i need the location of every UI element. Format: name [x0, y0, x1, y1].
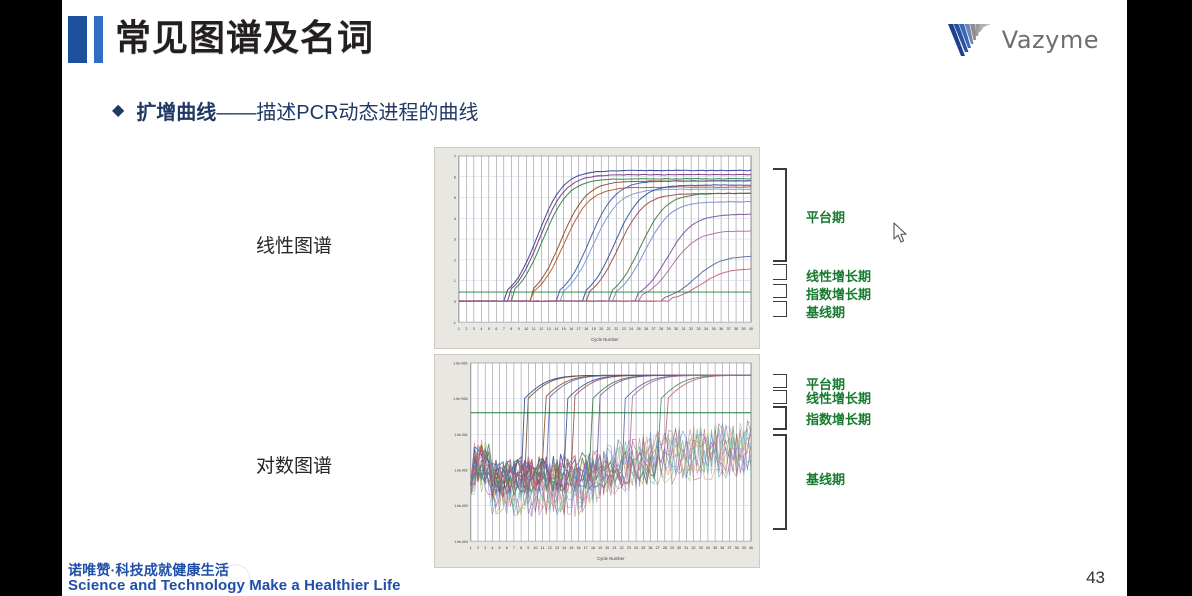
svg-text:6: 6 — [454, 175, 456, 179]
svg-text:39: 39 — [742, 327, 746, 331]
svg-text:34: 34 — [706, 546, 710, 550]
svg-text:40: 40 — [749, 546, 753, 550]
phase-linear-plateau: 平台期 — [806, 209, 845, 226]
svg-text:10: 10 — [524, 327, 528, 331]
svg-text:36: 36 — [719, 327, 723, 331]
svg-text:15: 15 — [569, 546, 573, 550]
svg-text:36: 36 — [720, 546, 724, 550]
svg-text:17: 17 — [577, 327, 581, 331]
phase-log-baseline: 基线期 — [806, 471, 845, 488]
subtitle-strong: 扩增曲线 — [136, 102, 216, 124]
logo-text: Vazyme — [1002, 26, 1099, 54]
svg-text:12: 12 — [539, 327, 543, 331]
svg-text:33: 33 — [699, 546, 703, 550]
section-subtitle: ◆ 扩增曲线——描述PCR动态进程的曲线 — [112, 96, 479, 125]
svg-text:5: 5 — [499, 546, 501, 550]
svg-text:23: 23 — [622, 327, 626, 331]
svg-text:39: 39 — [742, 546, 746, 550]
svg-text:4: 4 — [480, 327, 482, 331]
svg-text:11: 11 — [532, 327, 536, 331]
svg-text:17: 17 — [584, 546, 588, 550]
svg-text:35: 35 — [712, 327, 716, 331]
svg-text:21: 21 — [607, 327, 611, 331]
svg-text:32: 32 — [692, 546, 696, 550]
svg-text:1.0e-004: 1.0e-004 — [454, 540, 468, 544]
label-linear-plot: 线性图谱 — [256, 231, 332, 258]
svg-text:26: 26 — [644, 327, 648, 331]
svg-text:1: 1 — [458, 327, 460, 331]
brand-logo: Vazyme — [946, 22, 1099, 58]
phase-log-linear-growth: 线性增长期 — [806, 390, 871, 407]
svg-text:2: 2 — [465, 327, 467, 331]
svg-text:5: 5 — [454, 196, 456, 200]
svg-text:1.0e-003: 1.0e-003 — [454, 504, 468, 508]
svg-text:35: 35 — [713, 546, 717, 550]
title-accent-bar-thick — [68, 16, 87, 63]
svg-text:38: 38 — [735, 546, 739, 550]
bracket-linear-plateau — [773, 168, 787, 262]
svg-text:30: 30 — [677, 546, 681, 550]
page-number: 43 — [1086, 568, 1105, 588]
svg-text:1.0e+000: 1.0e+000 — [453, 397, 468, 401]
svg-text:12: 12 — [548, 546, 552, 550]
svg-text:3: 3 — [454, 238, 456, 242]
svg-text:20: 20 — [599, 327, 603, 331]
svg-text:9: 9 — [527, 546, 529, 550]
subtitle-rest: ——描述PCR动态进程的曲线 — [216, 102, 478, 124]
svg-text:5: 5 — [488, 327, 490, 331]
diamond-bullet-icon: ◆ — [112, 103, 124, 119]
svg-text:18: 18 — [584, 327, 588, 331]
svg-text:33: 33 — [697, 327, 701, 331]
label-log-plot: 对数图谱 — [256, 451, 332, 478]
svg-text:3: 3 — [484, 546, 486, 550]
svg-text:16: 16 — [569, 327, 573, 331]
svg-text:1: 1 — [470, 546, 472, 550]
slide-canvas: 常见图谱及名词 Vazyme ◆ 扩增曲线——描述PCR动态进程的曲线 — [62, 0, 1127, 596]
screen-root: 常见图谱及名词 Vazyme ◆ 扩增曲线——描述PCR动态进程的曲线 — [0, 0, 1192, 596]
svg-text:-1: -1 — [453, 321, 456, 325]
page-title: 常见图谱及名词 — [115, 14, 374, 62]
svg-text:13: 13 — [547, 327, 551, 331]
bracket-linear-baseline — [773, 301, 787, 317]
svg-text:20: 20 — [605, 546, 609, 550]
svg-text:18: 18 — [591, 546, 595, 550]
svg-text:16: 16 — [577, 546, 581, 550]
svg-text:19: 19 — [592, 327, 596, 331]
svg-text:31: 31 — [682, 327, 686, 331]
svg-text:24: 24 — [634, 546, 638, 550]
svg-text:22: 22 — [620, 546, 624, 550]
svg-text:34: 34 — [704, 327, 708, 331]
svg-text:21: 21 — [613, 546, 617, 550]
svg-text:2: 2 — [454, 258, 456, 262]
svg-text:4: 4 — [491, 546, 493, 550]
svg-text:3: 3 — [473, 327, 475, 331]
bracket-linear-exponential-growth — [773, 284, 787, 298]
svg-text:6: 6 — [506, 546, 508, 550]
svg-text:27: 27 — [652, 327, 656, 331]
svg-text:11: 11 — [541, 546, 545, 550]
svg-text:1: 1 — [454, 279, 456, 283]
svg-text:Cycle Number: Cycle Number — [597, 556, 625, 561]
phase-linear-exponential-growth: 指数增长期 — [806, 286, 871, 303]
footer-slogan-cn: 诺唯赞·科技成就健康生活 — [68, 562, 401, 578]
svg-text:22: 22 — [614, 327, 618, 331]
svg-text:30: 30 — [674, 327, 678, 331]
bracket-linear-linear-growth — [773, 264, 787, 280]
svg-text:15: 15 — [562, 327, 566, 331]
footer-slogan: 诺唯赞·科技成就健康生活 Science and Technology Make… — [68, 562, 401, 594]
svg-text:29: 29 — [670, 546, 674, 550]
svg-text:38: 38 — [734, 327, 738, 331]
svg-text:37: 37 — [727, 327, 731, 331]
svg-text:13: 13 — [555, 546, 559, 550]
svg-text:10: 10 — [533, 546, 537, 550]
svg-text:8: 8 — [520, 546, 522, 550]
svg-text:7: 7 — [503, 327, 505, 331]
svg-text:1.0e-001: 1.0e-001 — [454, 433, 468, 437]
svg-text:0: 0 — [454, 300, 456, 304]
svg-text:8: 8 — [510, 327, 512, 331]
vazyme-mark-icon — [946, 22, 993, 58]
svg-text:40: 40 — [749, 327, 753, 331]
svg-text:7: 7 — [454, 155, 456, 159]
svg-text:9: 9 — [518, 327, 520, 331]
svg-text:32: 32 — [689, 327, 693, 331]
svg-text:25: 25 — [641, 546, 645, 550]
chart-log-amplification: 1234567891011121314151617181920212223242… — [434, 354, 760, 568]
svg-text:28: 28 — [659, 327, 663, 331]
svg-text:28: 28 — [663, 546, 667, 550]
bracket-log-baseline — [773, 434, 787, 530]
svg-text:24: 24 — [629, 327, 633, 331]
svg-text:14: 14 — [562, 546, 566, 550]
svg-text:25: 25 — [637, 327, 641, 331]
svg-text:27: 27 — [656, 546, 660, 550]
bracket-log-plateau — [773, 374, 787, 388]
svg-text:1.0e-002: 1.0e-002 — [454, 469, 468, 473]
mouse-cursor-icon — [893, 222, 909, 244]
phase-linear-baseline: 基线期 — [806, 304, 845, 321]
svg-text:14: 14 — [554, 327, 558, 331]
chart-linear-amplification: 1234567891011121314151617181920212223242… — [434, 147, 760, 349]
svg-text:Cycle Number: Cycle Number — [591, 337, 619, 342]
phase-linear-linear-growth: 线性增长期 — [806, 268, 871, 285]
svg-text:7: 7 — [513, 546, 515, 550]
svg-text:2: 2 — [477, 546, 479, 550]
bracket-log-exponential-growth — [773, 406, 787, 430]
svg-text:1.0e+001: 1.0e+001 — [453, 362, 468, 366]
svg-text:31: 31 — [684, 546, 688, 550]
svg-text:29: 29 — [667, 327, 671, 331]
svg-text:23: 23 — [627, 546, 631, 550]
svg-text:37: 37 — [727, 546, 731, 550]
svg-text:4: 4 — [454, 217, 456, 221]
svg-text:6: 6 — [495, 327, 497, 331]
phase-log-exponential-growth: 指数增长期 — [806, 411, 871, 428]
title-accent-bar-thin — [94, 16, 103, 63]
svg-text:19: 19 — [598, 546, 602, 550]
footer-slogan-en: Science and Technology Make a Healthier … — [68, 578, 401, 594]
bracket-log-linear-growth — [773, 390, 787, 404]
svg-text:26: 26 — [648, 546, 652, 550]
